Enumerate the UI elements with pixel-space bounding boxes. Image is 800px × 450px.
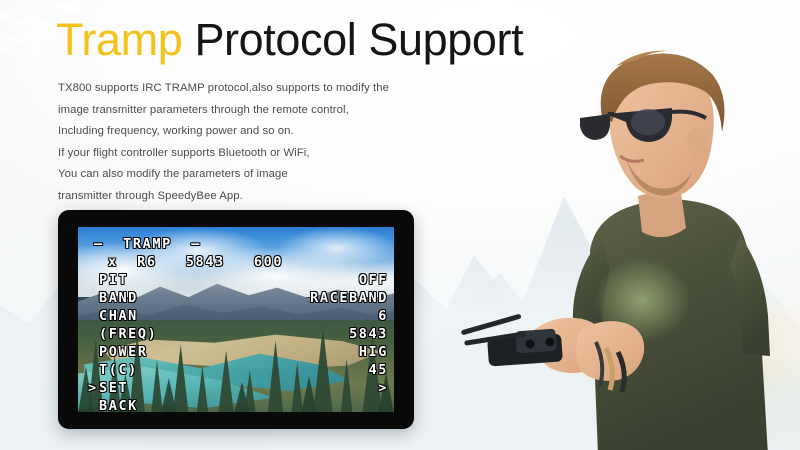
osd-row-label: PIT: [99, 272, 128, 288]
fpv-monitor: – TRAMP – x R6 5843 600 PIT OFF BAND RAC…: [58, 210, 414, 429]
osd-row-temperature[interactable]: T(C) 45: [86, 361, 390, 379]
remote-controller-icon: [461, 314, 563, 367]
page-title-accent: Tramp: [56, 14, 182, 65]
osd-cursor: [88, 271, 99, 289]
osd-row-band[interactable]: BAND RACEBAND: [86, 289, 390, 307]
osd-cursor: [88, 343, 99, 361]
osd-cursor: [88, 307, 99, 325]
description-paragraph: TX800 supports IRC TRAMP protocol,also s…: [58, 78, 438, 207]
osd-row-freq[interactable]: (FREQ) 5843: [86, 325, 390, 343]
osd-row-label: POWER: [99, 344, 148, 360]
osd-cursor: [88, 361, 99, 379]
osd-row-label: T(C): [99, 362, 138, 378]
osd-row-back[interactable]: BACK: [86, 397, 390, 412]
monitor-screen: – TRAMP – x R6 5843 600 PIT OFF BAND RAC…: [78, 227, 394, 412]
description-line: Including frequency, working power and s…: [58, 121, 438, 143]
description-line: If your flight controller supports Bluet…: [58, 143, 438, 165]
osd-row-value: 5843: [349, 325, 388, 343]
osd-row-label: BACK: [99, 398, 138, 412]
osd-row-set[interactable]: >SET >: [86, 379, 390, 397]
pilot-photo: [430, 0, 800, 450]
description-line: image transmitter parameters through the…: [58, 100, 438, 122]
osd-row-value: >: [378, 379, 388, 397]
osd-row-value: RACEBAND: [310, 289, 388, 307]
osd-row-power[interactable]: POWER HIG: [86, 343, 390, 361]
description-line: transmitter through SpeedyBee App.: [58, 186, 438, 208]
osd-row-label: (FREQ): [99, 326, 157, 342]
osd-row-value: HIG: [359, 343, 388, 361]
osd-row-chan[interactable]: CHAN 6: [86, 307, 390, 325]
osd-title: – TRAMP –: [86, 235, 390, 253]
osd-row-label: SET: [99, 380, 128, 396]
description-line: You can also modify the parameters of im…: [58, 164, 438, 186]
osd-subtitle: x R6 5843 600: [86, 253, 390, 271]
description-line: TX800 supports IRC TRAMP protocol,also s…: [58, 78, 438, 100]
osd-cursor: [88, 289, 99, 307]
osd-menu: – TRAMP – x R6 5843 600 PIT OFF BAND RAC…: [78, 227, 394, 412]
osd-row-value: OFF: [359, 271, 388, 289]
page-title: Tramp Protocol Support: [56, 16, 523, 64]
osd-row-pit[interactable]: PIT OFF: [86, 271, 390, 289]
osd-row-label: CHAN: [99, 308, 138, 324]
osd-cursor-selected: >: [88, 379, 99, 397]
osd-row-label: BAND: [99, 290, 138, 306]
osd-cursor: [88, 325, 99, 343]
osd-cursor: [88, 397, 99, 412]
osd-row-value: 6: [378, 307, 388, 325]
page-title-rest: Protocol Support: [182, 14, 523, 65]
osd-row-value: 45: [369, 361, 388, 379]
